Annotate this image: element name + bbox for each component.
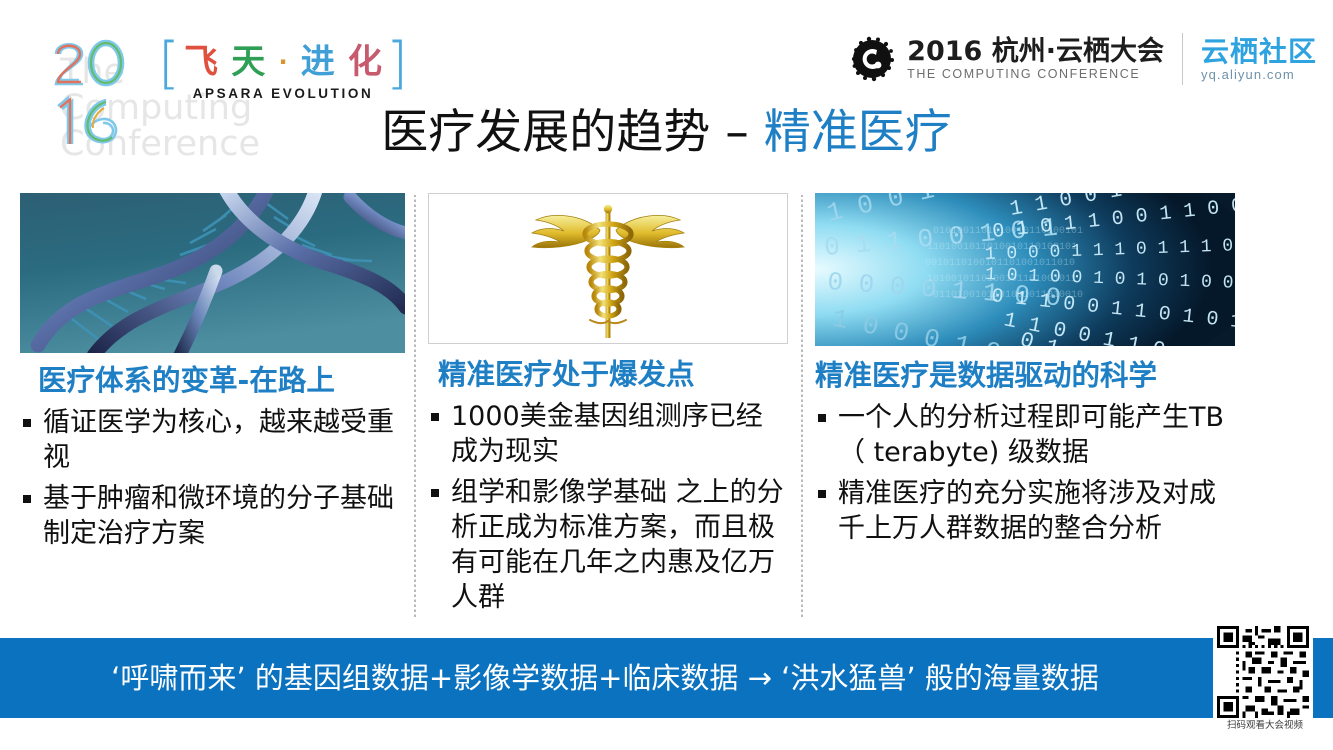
column-divider-2	[801, 195, 803, 619]
apsara-char-dot: ·	[278, 43, 287, 81]
computing-conference-logo: 2016 杭州·云栖大会 THE COMPUTING CONFERENCE	[847, 34, 1164, 84]
svg-text:1101001011010010110100101: 1101001011010010110100101	[927, 242, 1077, 253]
list-item: 精准医疗的充分实施将涉及对成千上万人群数据的整合分析	[815, 476, 1235, 546]
svg-text:0110100101101001011010010: 0110100101101001011010010	[933, 290, 1083, 301]
list-item: 1000美金基因组测序已经成为现实	[428, 399, 788, 469]
column-2-heading: 精准医疗处于爆发点	[438, 357, 788, 393]
column-1-bullets: 循证医学为核心，越来越受重视 基于肿瘤和微环境的分子基础制定治疗方案	[20, 405, 405, 551]
bottom-banner: ‘呼啸而来’ 的基因组数据+影像学数据+临床数据 → ‘洪水猛兽’ 般的海量数据	[0, 638, 1333, 718]
list-item: 组学和影像学基础 之上的分析正成为标准方案，而且极有可能在几年之内惠及亿万人群	[428, 475, 788, 615]
bracket-right: ]	[386, 36, 408, 92]
svg-text:1010010110100101101001011: 1010010110100101101001011	[927, 274, 1077, 285]
qr-code-block[interactable]: 扫码观看大会视频	[1213, 626, 1317, 744]
page-title: 医疗发展的趋势 – 精准医疗	[0, 104, 1333, 162]
column-3-bullets: 一个人的分析过程即可能产生TB（ terabyte) 级数据 精准医疗的充分实施…	[815, 400, 1235, 546]
qr-code-icon[interactable]	[1213, 626, 1313, 718]
content-columns: 医疗体系的变革-在路上 循证医学为核心，越来越受重视 基于肿瘤和微环境的分子基础…	[0, 193, 1333, 623]
apsara-char-4: 化	[348, 43, 382, 81]
apsara-char-1: 飞	[184, 43, 218, 81]
list-item: 一个人的分析过程即可能产生TB（ terabyte) 级数据	[815, 400, 1235, 470]
apsara-char-2: 天	[231, 43, 265, 81]
column-divider-1	[414, 195, 416, 619]
dna-double-helix-image	[20, 193, 405, 353]
page-title-dash: –	[725, 105, 749, 160]
feitian-evolution-lockup: [ ] 飞 天 · 进 化 APSARA EVOLUTION	[158, 36, 408, 114]
caduceus-medical-symbol-image	[428, 193, 788, 344]
banner-text: ‘呼啸而来’ 的基因组数据+影像学数据+临床数据 → ‘洪水猛兽’ 般的海量数据	[0, 638, 1210, 718]
conference-branding-block: 2016 杭州·云栖大会 THE COMPUTING CONFERENCE 云栖…	[847, 28, 1317, 90]
qr-code-caption: 扫码观看大会视频	[1213, 720, 1317, 732]
bracket-left: [	[158, 36, 180, 92]
computing-conference-dot-mark-icon	[847, 34, 897, 84]
page-title-accent: 精准医疗	[764, 105, 952, 160]
community-url: yq.aliyun.com	[1201, 67, 1317, 83]
list-item: 循证医学为核心，越来越受重视	[20, 405, 405, 475]
list-item: 基于肿瘤和微环境的分子基础制定治疗方案	[20, 481, 405, 551]
header-divider	[1182, 33, 1183, 85]
slide-root: The Computing Conference	[0, 0, 1333, 750]
binary-data-tunnel-image: 1 0 0 1 0 0 1 1 0 0 1 0 1 0 0 0 0 1 1 0 …	[815, 193, 1235, 346]
page-title-main: 医疗发展的趋势	[381, 105, 710, 160]
apsara-char-3: 进	[301, 43, 335, 81]
feitian-evolution-chinese: 飞 天 · 进 化	[184, 38, 382, 86]
community-name: 云栖社区	[1201, 36, 1317, 67]
conference-subtitle: THE COMPUTING CONFERENCE	[907, 67, 1164, 82]
column-2: 精准医疗处于爆发点 1000美金基因组测序已经成为现实 组学和影像学基础 之上的…	[428, 193, 788, 623]
column-1-heading: 医疗体系的变革-在路上	[38, 363, 405, 399]
column-2-bullets: 1000美金基因组测序已经成为现实 组学和影像学基础 之上的分析正成为标准方案，…	[428, 399, 788, 615]
column-3-heading: 精准医疗是数据驱动的科学	[815, 358, 1235, 394]
yunqi-community-logo[interactable]: 云栖社区 yq.aliyun.com	[1201, 36, 1317, 83]
svg-text:0101001101010010110100101: 0101001101010010110100101	[933, 226, 1083, 237]
conference-title: 2016 杭州·云栖大会	[907, 37, 1164, 67]
column-3: 1 0 0 1 0 0 1 1 0 0 1 0 1 0 0 0 0 1 1 0 …	[815, 193, 1235, 623]
apsara-evolution-english: APSARA EVOLUTION	[176, 86, 390, 101]
column-1: 医疗体系的变革-在路上 循证医学为核心，越来越受重视 基于肿瘤和微环境的分子基础…	[20, 193, 405, 623]
svg-text:0010110100101101001011010: 0010110100101101001011010	[925, 258, 1075, 269]
conference-text: 2016 杭州·云栖大会 THE COMPUTING CONFERENCE	[907, 37, 1164, 82]
